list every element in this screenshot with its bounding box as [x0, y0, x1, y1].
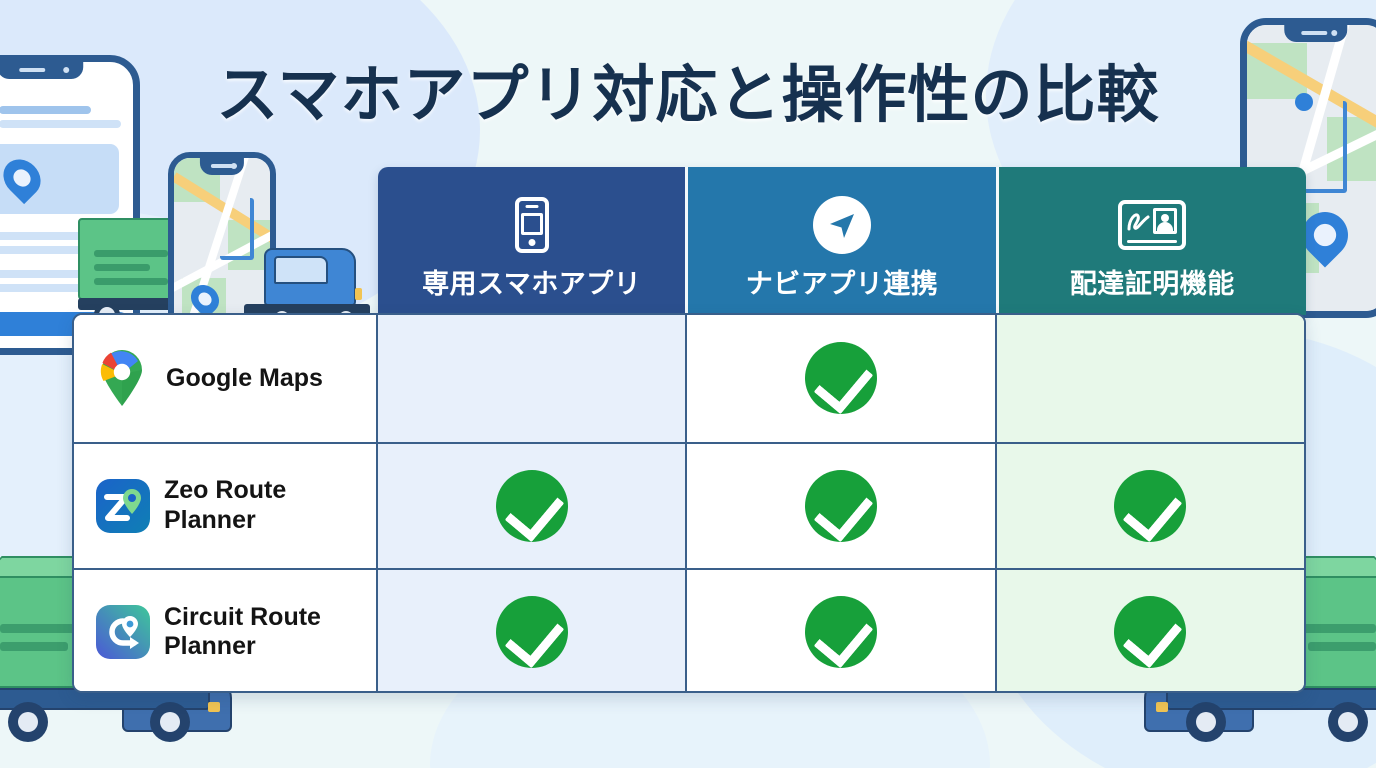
check-icon	[1114, 470, 1186, 542]
column-header-label: 専用スマホアプリ	[422, 262, 641, 301]
comparison-table: 専用スマホアプリ ナビアプリ連携	[72, 167, 1306, 693]
map-pin-illustration	[1302, 212, 1348, 258]
row-label-zeo-route-planner: Zeo Route Planner	[74, 444, 378, 569]
smartphone-icon	[515, 194, 549, 256]
row-label-text: Google Maps	[166, 364, 323, 394]
row-label-text: Zeo Route Planner	[164, 476, 286, 535]
zeo-route-planner-icon	[96, 479, 150, 533]
check-icon	[496, 596, 568, 668]
table-header-row: 専用スマホアプリ ナビアプリ連携	[378, 167, 1306, 315]
cell-circuit-nav-integration	[685, 570, 994, 693]
check-icon	[805, 342, 877, 414]
column-header-nav-integration: ナビアプリ連携	[685, 167, 995, 315]
column-header-dedicated-app: 専用スマホアプリ	[378, 167, 685, 315]
column-header-label: ナビアプリ連携	[746, 262, 939, 301]
cell-zeo-nav-integration	[685, 444, 994, 569]
infographic-canvas: スマホアプリ対応と操作性の比較 専用スマホアプリ ナ	[0, 0, 1376, 768]
column-header-label: 配達証明機能	[1070, 262, 1235, 301]
cell-zeo-dedicated-app	[378, 444, 685, 569]
navigation-arrow-icon	[813, 194, 871, 256]
page-title: スマホアプリ対応と操作性の比較	[0, 44, 1376, 134]
check-icon	[805, 596, 877, 668]
id-card-signature-icon	[1118, 194, 1186, 256]
table-row: Zeo Route Planner	[74, 442, 1304, 569]
check-icon	[1114, 596, 1186, 668]
check-icon	[805, 470, 877, 542]
row-label-text: Circuit Route Planner	[164, 603, 321, 662]
table-row: Google Maps	[74, 315, 1304, 442]
circuit-route-planner-icon	[96, 605, 150, 659]
cell-google-maps-nav-integration	[685, 315, 994, 442]
cell-circuit-delivery-proof	[995, 570, 1304, 693]
row-label-google-maps: Google Maps	[74, 315, 378, 442]
cell-circuit-dedicated-app	[378, 570, 685, 693]
cell-google-maps-dedicated-app	[378, 315, 685, 442]
column-header-delivery-proof: 配達証明機能	[996, 167, 1306, 315]
google-maps-pin-icon	[98, 350, 152, 406]
table-body: Google Maps	[72, 313, 1306, 693]
cell-zeo-delivery-proof	[995, 444, 1304, 569]
check-icon	[496, 470, 568, 542]
phone-notch	[1284, 25, 1347, 42]
row-label-circuit-route-planner: Circuit Route Planner	[74, 570, 378, 693]
table-row: Circuit Route Planner	[74, 568, 1304, 693]
cell-google-maps-delivery-proof	[995, 315, 1304, 442]
